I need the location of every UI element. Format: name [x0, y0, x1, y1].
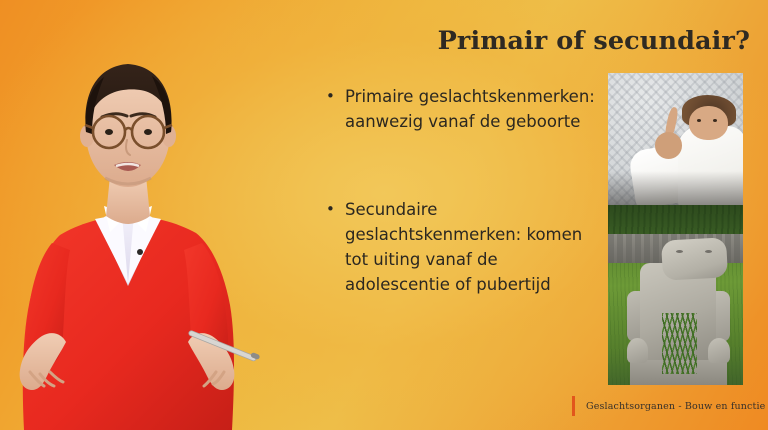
- footer-label: Geslachtsorganen - Bouw en functie: [586, 401, 765, 412]
- statue-head: [661, 238, 728, 281]
- presenter-sweater: [23, 216, 234, 430]
- bullet-dot-icon: •: [320, 197, 345, 222]
- statue-foot-left: [627, 338, 649, 363]
- photo-children: [608, 73, 743, 205]
- lapel-microphone-icon: [137, 249, 143, 255]
- statue-eye-left-icon: [676, 250, 683, 253]
- photo-statue: [608, 205, 743, 385]
- slide-canvas: Primair of secundair? • Primaire geslach…: [0, 0, 768, 430]
- stylus-pen-icon: [188, 330, 260, 362]
- list-item: • Primaire geslachtskenmerken: aanwezig …: [320, 84, 600, 134]
- eye-right-icon: [144, 129, 152, 135]
- toddler-head: [689, 106, 728, 140]
- eye-left-icon: [105, 129, 113, 135]
- bullet-list: • Primaire geslachtskenmerken: aanwezig …: [320, 84, 600, 297]
- presenter-neck: [106, 176, 150, 224]
- presenter-hand-right: [188, 330, 260, 390]
- page-title: Primair of secundair?: [330, 26, 750, 56]
- list-item: • Secundaire geslachtskenmerken: komen t…: [320, 197, 600, 297]
- glasses-icon: [85, 116, 172, 148]
- accent-bar: [572, 396, 575, 416]
- newborn-head: [655, 132, 682, 158]
- list-item-label: Primaire geslachtskenmerken: aanwezig va…: [345, 84, 600, 134]
- bullet-dot-icon: •: [320, 84, 345, 109]
- presenter-head: [80, 64, 176, 187]
- presenter-shirt: [95, 206, 161, 286]
- presenter-hand-left: [20, 333, 66, 390]
- slide-footer: Geslachtsorganen - Bouw en functie: [572, 396, 765, 416]
- grass-tuft: [662, 313, 697, 374]
- list-item-label: Secundaire geslachtskenmerken: komen tot…: [345, 197, 600, 297]
- statue-foot-right: [708, 338, 730, 363]
- presenter-video: [0, 0, 300, 430]
- photo-shadow: [608, 171, 743, 205]
